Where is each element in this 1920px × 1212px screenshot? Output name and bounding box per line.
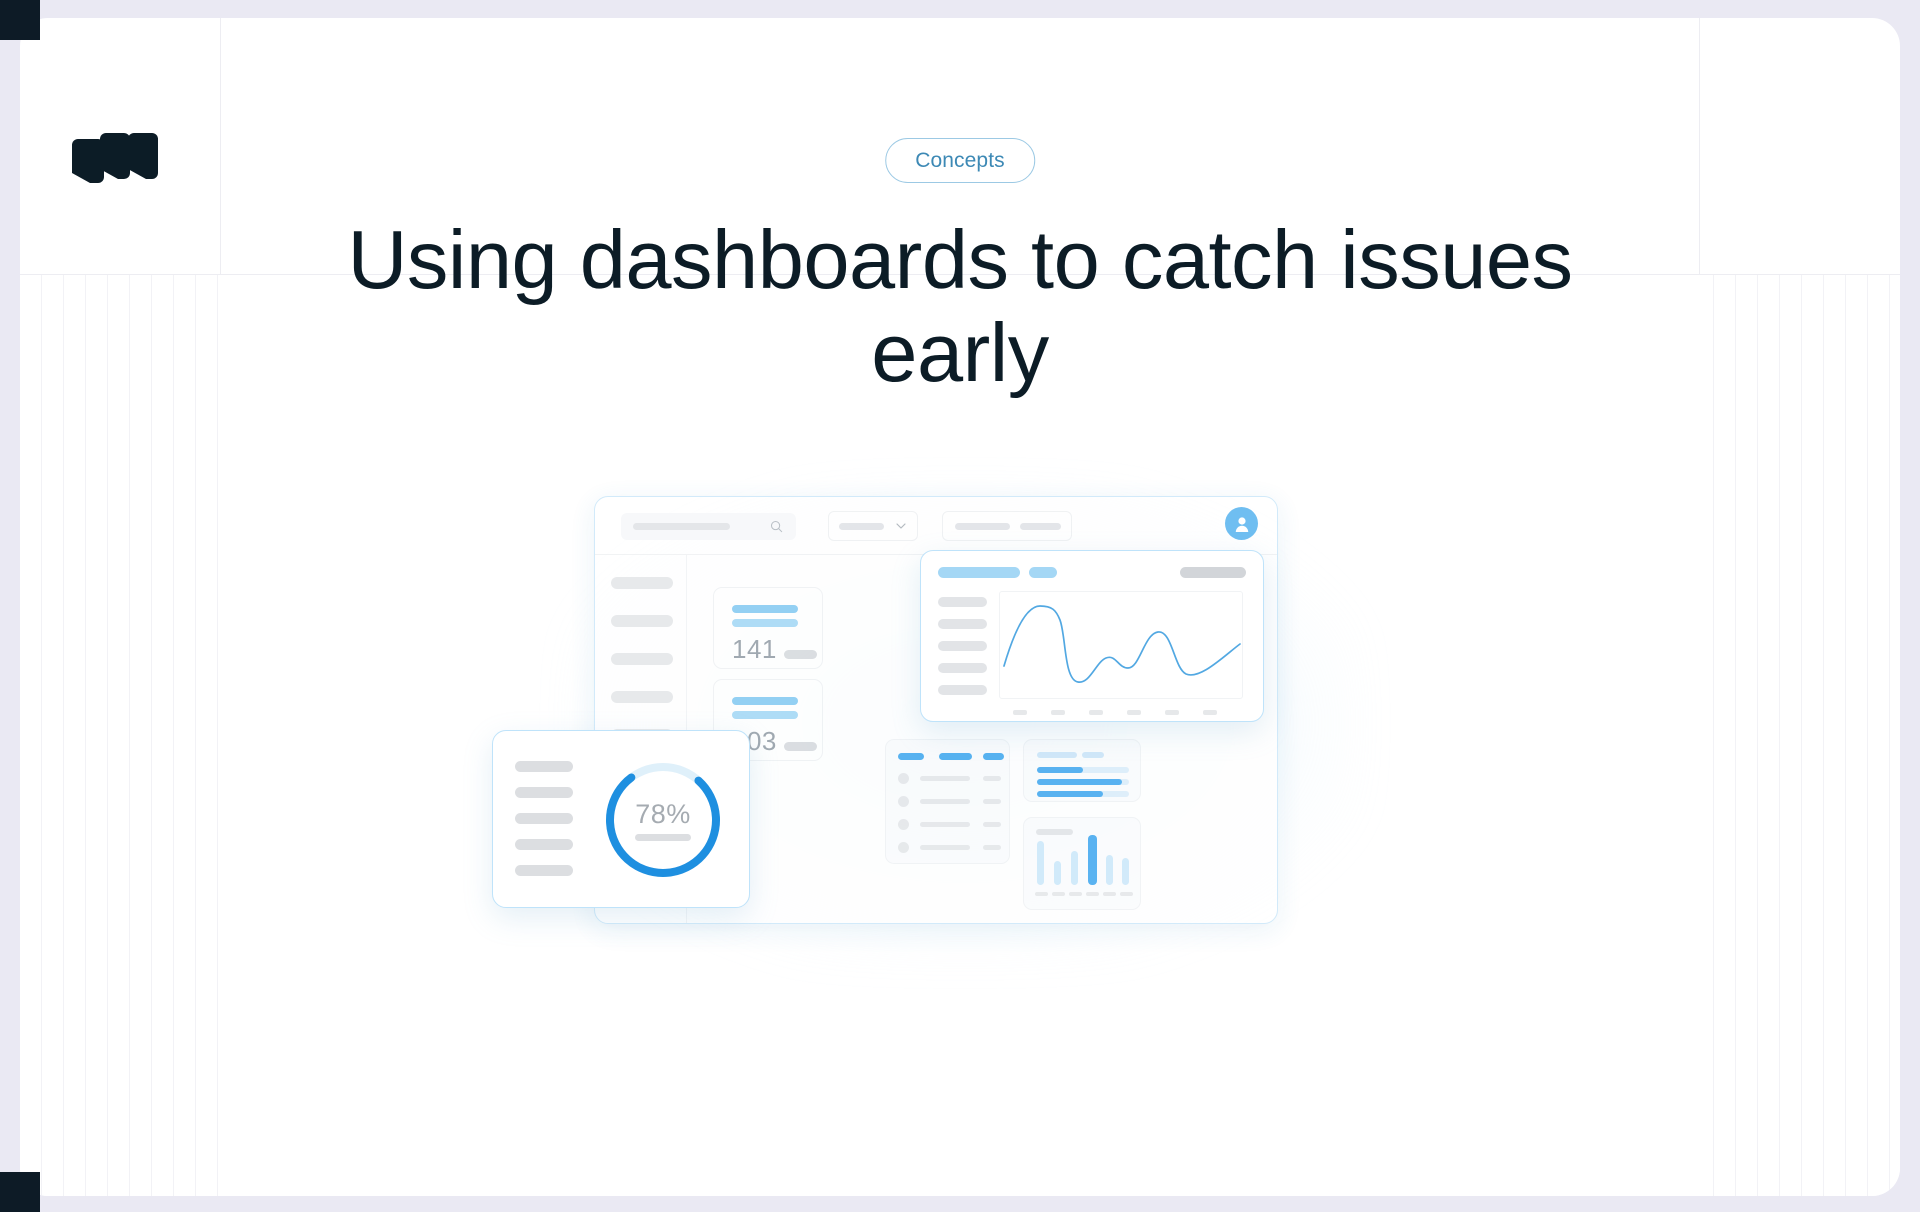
progress-fill-1	[1037, 767, 1083, 773]
bar-6	[1122, 858, 1129, 885]
progress-card-title-2	[1082, 752, 1104, 758]
stat-card-141[interactable]: 141	[713, 587, 823, 669]
filter-dropdown[interactable]	[828, 511, 918, 541]
table-header-3	[983, 753, 1004, 760]
chevron-down-icon	[896, 523, 906, 529]
brand-logo[interactable]	[70, 125, 176, 197]
search-icon	[770, 520, 783, 533]
progress-track-1	[1037, 767, 1129, 773]
dashboard-window-donut: 78%	[492, 730, 750, 908]
bar-5	[1106, 855, 1113, 885]
dashboard-window-line-chart	[920, 550, 1264, 722]
progress-fill-2	[1037, 779, 1122, 785]
table-row-avatar	[898, 796, 909, 807]
bar-tick-1	[1035, 892, 1048, 896]
corner-marker-top-left	[0, 0, 40, 40]
line-chart-tick-3	[1089, 710, 1103, 715]
stat-card-bar-2	[732, 619, 798, 627]
table-row-avatar	[898, 819, 909, 830]
user-avatar[interactable]	[1225, 507, 1258, 540]
search-placeholder-bar	[633, 523, 730, 530]
bar-tick-5	[1103, 892, 1116, 896]
bar-chart-card[interactable]	[1023, 817, 1141, 910]
sidebar-item-4[interactable]	[611, 691, 673, 703]
bar-tick-3	[1069, 892, 1082, 896]
line-window-action[interactable]	[1180, 567, 1246, 578]
line-window-sidebar-item-3[interactable]	[938, 641, 987, 651]
bar-tick-6	[1120, 892, 1133, 896]
table-row-value	[983, 845, 1001, 850]
bar-tick-4	[1086, 892, 1099, 896]
table-row-value	[983, 799, 1001, 804]
line-chart-tick-4	[1127, 710, 1141, 715]
donut-list-item-2[interactable]	[515, 787, 573, 798]
secondary-filter-bar-1	[955, 523, 1010, 530]
table-header-1	[898, 753, 924, 760]
line-window-sidebar-item-1[interactable]	[938, 597, 987, 607]
table-row-label	[920, 799, 970, 804]
donut-list-item-1[interactable]	[515, 761, 573, 772]
line-chart-tick-6	[1203, 710, 1217, 715]
donut-sublabel-bar	[635, 834, 691, 841]
progress-track-3	[1037, 791, 1129, 797]
filter-value-bar	[839, 523, 884, 530]
page-title: Using dashboards to catch issues early	[220, 214, 1700, 400]
hero-card: Concepts Using dashboards to catch issue…	[20, 18, 1900, 1196]
bar-tick-2	[1052, 892, 1065, 896]
table-row-label	[920, 822, 970, 827]
user-avatar-icon	[1231, 513, 1253, 535]
donut-center-label-wrap: 78%	[599, 756, 727, 884]
category-badge-label: Concepts	[915, 149, 1005, 173]
category-badge[interactable]: Concepts	[885, 138, 1035, 183]
progress-card-title-1	[1037, 752, 1077, 758]
line-window-sidebar-item-5[interactable]	[938, 685, 987, 695]
sidebar-item-2[interactable]	[611, 615, 673, 627]
table-row-value	[983, 822, 1001, 827]
sidebar-item-3[interactable]	[611, 653, 673, 665]
table-row-label	[920, 776, 970, 781]
bar-4	[1088, 835, 1097, 885]
stat-card-bar-1	[732, 697, 798, 705]
content-column: Concepts Using dashboards to catch issue…	[220, 18, 1700, 1196]
page-root: Concepts Using dashboards to catch issue…	[0, 0, 1920, 1212]
line-window-sidebar-item-4[interactable]	[938, 663, 987, 673]
sidebar-item-1[interactable]	[611, 577, 673, 589]
table-row-value	[983, 776, 1001, 781]
line-chart	[999, 591, 1243, 699]
progress-track-2	[1037, 779, 1129, 785]
donut-list-item-4[interactable]	[515, 839, 573, 850]
bar-chart-title	[1036, 829, 1073, 835]
donut-percent-label: 78%	[635, 799, 691, 830]
table-row-label	[920, 845, 970, 850]
line-chart-tick-1	[1013, 710, 1027, 715]
table-header-2	[939, 753, 972, 760]
secondary-filter-field[interactable]	[942, 511, 1072, 541]
corner-marker-bottom-left	[0, 1172, 40, 1212]
dashboard-illustration: 141 203	[510, 468, 1410, 988]
donut-list-item-5[interactable]	[515, 865, 573, 876]
bar-1	[1037, 841, 1044, 885]
donut-list-item-3[interactable]	[515, 813, 573, 824]
line-window-tab-2[interactable]	[1029, 567, 1057, 578]
secondary-filter-bar-2	[1020, 523, 1061, 530]
line-window-sidebar-item-2[interactable]	[938, 619, 987, 629]
stat-card-bar-1	[732, 605, 798, 613]
progress-fill-3	[1037, 791, 1103, 797]
search-input[interactable]	[621, 513, 796, 540]
stat-card-bar-2	[732, 711, 798, 719]
line-window-tab-1[interactable]	[938, 567, 1020, 578]
dashboard-topbar	[595, 497, 1277, 555]
stat-card-tag	[784, 742, 817, 751]
stat-card-tag	[784, 650, 817, 659]
line-chart-tick-5	[1165, 710, 1179, 715]
table-card[interactable]	[885, 739, 1010, 864]
stat-card-value: 141	[732, 634, 777, 665]
bar-2	[1054, 861, 1061, 885]
table-row-avatar	[898, 773, 909, 784]
bar-3	[1071, 851, 1078, 885]
line-chart-svg	[1000, 592, 1244, 700]
line-chart-tick-2	[1051, 710, 1065, 715]
table-row-avatar	[898, 842, 909, 853]
progress-card[interactable]	[1023, 739, 1141, 802]
